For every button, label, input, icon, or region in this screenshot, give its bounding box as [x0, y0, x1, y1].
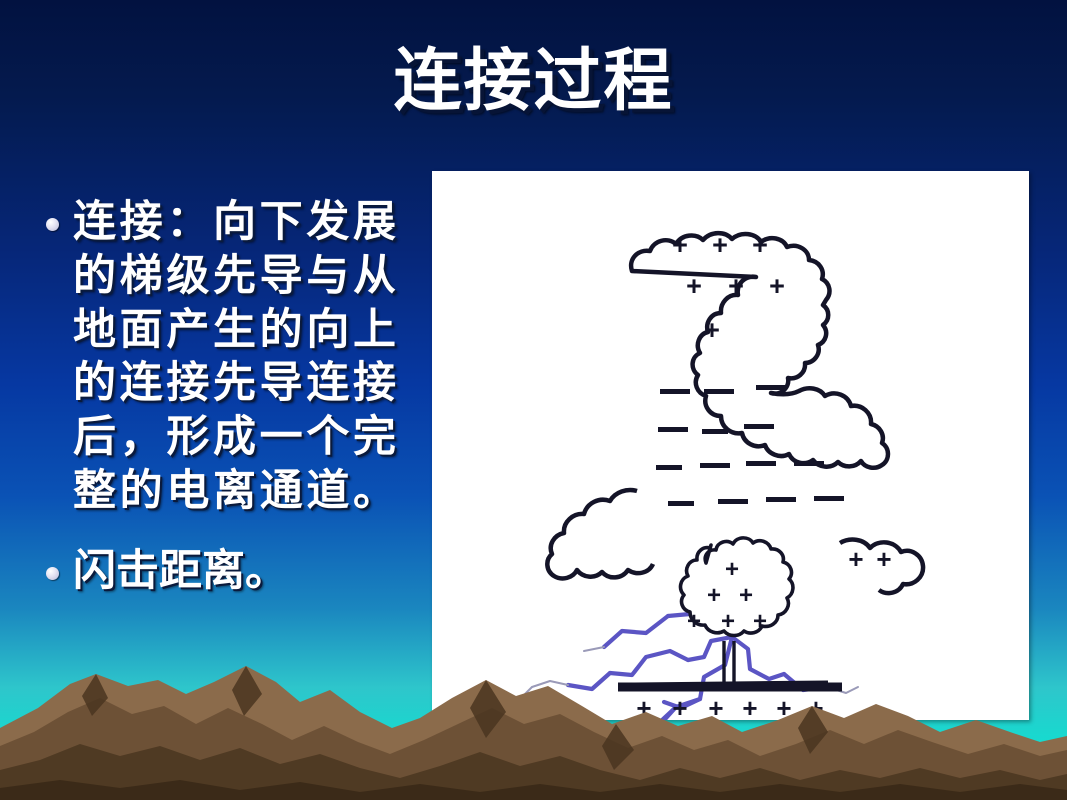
svg-text:+: + — [728, 271, 744, 301]
page-title: 连接过程 — [0, 44, 1067, 119]
svg-text:+: + — [725, 556, 739, 583]
svg-text:+: + — [848, 544, 863, 574]
svg-text:+: + — [808, 693, 823, 720]
cloud-lower-left-lobe — [547, 490, 653, 578]
bullet-text: 闪击距离。 — [73, 545, 396, 599]
lightning-diagram-panel: + + + + + + + — [432, 171, 1029, 720]
svg-text:+: + — [708, 693, 723, 720]
svg-text:+: + — [776, 693, 791, 720]
bullet-dot-icon — [46, 567, 59, 580]
svg-text:+: + — [672, 693, 687, 720]
svg-text:+: + — [686, 271, 702, 301]
svg-text:+: + — [753, 608, 767, 635]
list-item: 闪击距离。 — [46, 545, 396, 599]
bullet-text: 连接：向下发展的梯级先导与从地面产生的向上的连接先导连接后，形成一个完整的电离通… — [73, 196, 396, 519]
svg-text:+: + — [769, 271, 785, 301]
svg-text:+: + — [687, 608, 701, 635]
svg-text:+: + — [742, 693, 757, 720]
svg-text:+: + — [672, 230, 688, 260]
bullet-dot-icon — [46, 218, 59, 231]
cloud-outline — [631, 233, 888, 468]
svg-text:+: + — [636, 693, 651, 720]
mountain-front-layer — [0, 744, 1067, 800]
svg-text:+: + — [739, 582, 753, 609]
mountain-base-layer — [0, 780, 1067, 800]
svg-text:+: + — [721, 608, 735, 635]
bullet-list: 连接：向下发展的梯级先导与从地面产生的向上的连接先导连接后，形成一个完整的电离通… — [46, 196, 396, 604]
svg-text:+: + — [704, 315, 720, 345]
svg-text:+: + — [712, 230, 728, 260]
svg-text:+: + — [707, 582, 721, 609]
svg-text:+: + — [752, 230, 768, 260]
cloud-positive-charges: + + + + + + + — [672, 230, 785, 345]
slide: 连接过程 连接：向下发展的梯级先导与从地面产生的向上的连接先导连接后，形成一个完… — [0, 0, 1067, 800]
list-item: 连接：向下发展的梯级先导与从地面产生的向上的连接先导连接后，形成一个完整的电离通… — [46, 196, 396, 519]
svg-text:+: + — [876, 544, 891, 574]
ground-line-highlight — [632, 683, 828, 685]
